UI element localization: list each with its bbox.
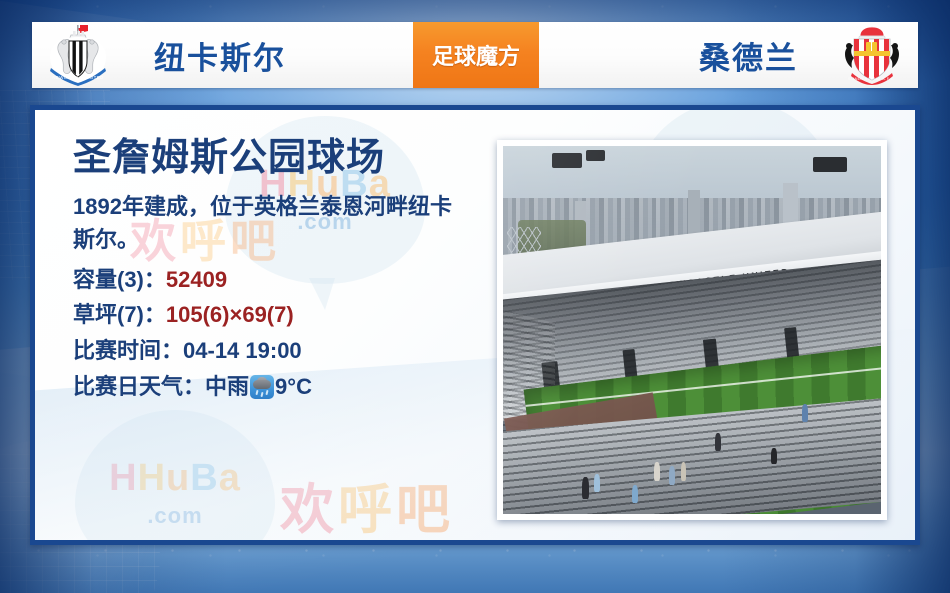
stadium-info-panel: HHuBa .com HHuBa .com HHuBa .com 欢呼吧 欢呼吧… — [30, 105, 920, 545]
photo-spectator-3 — [771, 448, 777, 465]
site-logo-text: 足球魔方 — [432, 39, 520, 71]
photo-spectator-6 — [681, 462, 687, 480]
pitch-value: 105(6)×69(7) — [166, 302, 294, 327]
stadium-description: 1892年建成，位于英格兰泰恩河畔纽卡斯尔。 — [73, 190, 473, 256]
photo-spectator-8 — [594, 474, 600, 492]
away-team-cell: 桑德兰 — [539, 33, 826, 78]
sunderland-afc-crest-icon: SUNDERLAND A.F.C. — [840, 25, 904, 85]
capacity-label: 容量(3)： — [73, 267, 166, 292]
photo-spectator-1 — [715, 433, 721, 451]
stadium-info-column: 圣詹姆斯公园球场 1892年建成，位于英格兰泰恩河畔纽卡斯尔。 容量(3)：52… — [73, 138, 493, 404]
photo-spectator-7 — [582, 477, 589, 499]
watermark-cheer-text: 欢呼吧 — [280, 465, 454, 544]
weather-temperature: 9°C — [275, 374, 312, 399]
weather-row: 比赛日天气：中雨 9°C — [73, 369, 493, 405]
away-team-name: 桑德兰 — [699, 33, 798, 78]
stadium-photo: NEWCASTLE UNITED — [503, 146, 881, 514]
capacity-value: 52409 — [166, 267, 227, 292]
photo-speaker-left — [552, 153, 582, 168]
stadium-photo-frame[interactable]: NEWCASTLE UNITED — [497, 140, 887, 520]
photo-spectator-4 — [654, 462, 660, 480]
home-team-name: 纽卡斯尔 — [154, 33, 286, 78]
capacity-row: 容量(3)：52409 — [73, 262, 493, 298]
stadium-title: 圣詹姆斯公园球场 — [73, 138, 493, 180]
weather-label: 比赛日天气： — [73, 374, 205, 399]
watermark-brand-bottom: HHuBa — [109, 459, 241, 497]
match-time-label: 比赛时间： — [73, 338, 183, 363]
pitch-row: 草坪(7)：105(6)×69(7) — [73, 297, 493, 333]
rain-cloud-icon — [250, 375, 274, 399]
match-time-row: 比赛时间：04-14 19:00 — [73, 333, 493, 369]
watermark-bubble-bottom: HHuBa .com — [75, 410, 275, 545]
match-header-bar: NEWCASTLE UNITED 纽卡斯尔 足球魔方 桑德兰 — [32, 22, 918, 88]
site-logo[interactable]: 足球魔方 — [413, 22, 539, 88]
photo-spectator-5 — [669, 466, 675, 484]
svg-text:NEWCASTLE UNITED: NEWCASTLE UNITED — [52, 75, 103, 80]
photo-spectator-2 — [802, 404, 808, 422]
home-crest-container[interactable]: NEWCASTLE UNITED — [32, 22, 124, 88]
away-crest-container[interactable]: SUNDERLAND A.F.C. — [826, 22, 918, 88]
watermark-dotcom-bottom: .com — [147, 503, 202, 529]
photo-spectator-9 — [632, 485, 638, 503]
photo-speaker-left2 — [586, 150, 605, 161]
weather-value: 中雨 — [205, 374, 249, 399]
svg-text:SUNDERLAND A.F.C.: SUNDERLAND A.F.C. — [848, 76, 896, 81]
match-time-value: 04-14 19:00 — [183, 338, 302, 363]
home-team-cell: 纽卡斯尔 — [124, 33, 413, 78]
pitch-label: 草坪(7)： — [73, 302, 166, 327]
newcastle-united-crest-icon: NEWCASTLE UNITED — [45, 24, 111, 86]
photo-speaker-right — [813, 157, 847, 172]
